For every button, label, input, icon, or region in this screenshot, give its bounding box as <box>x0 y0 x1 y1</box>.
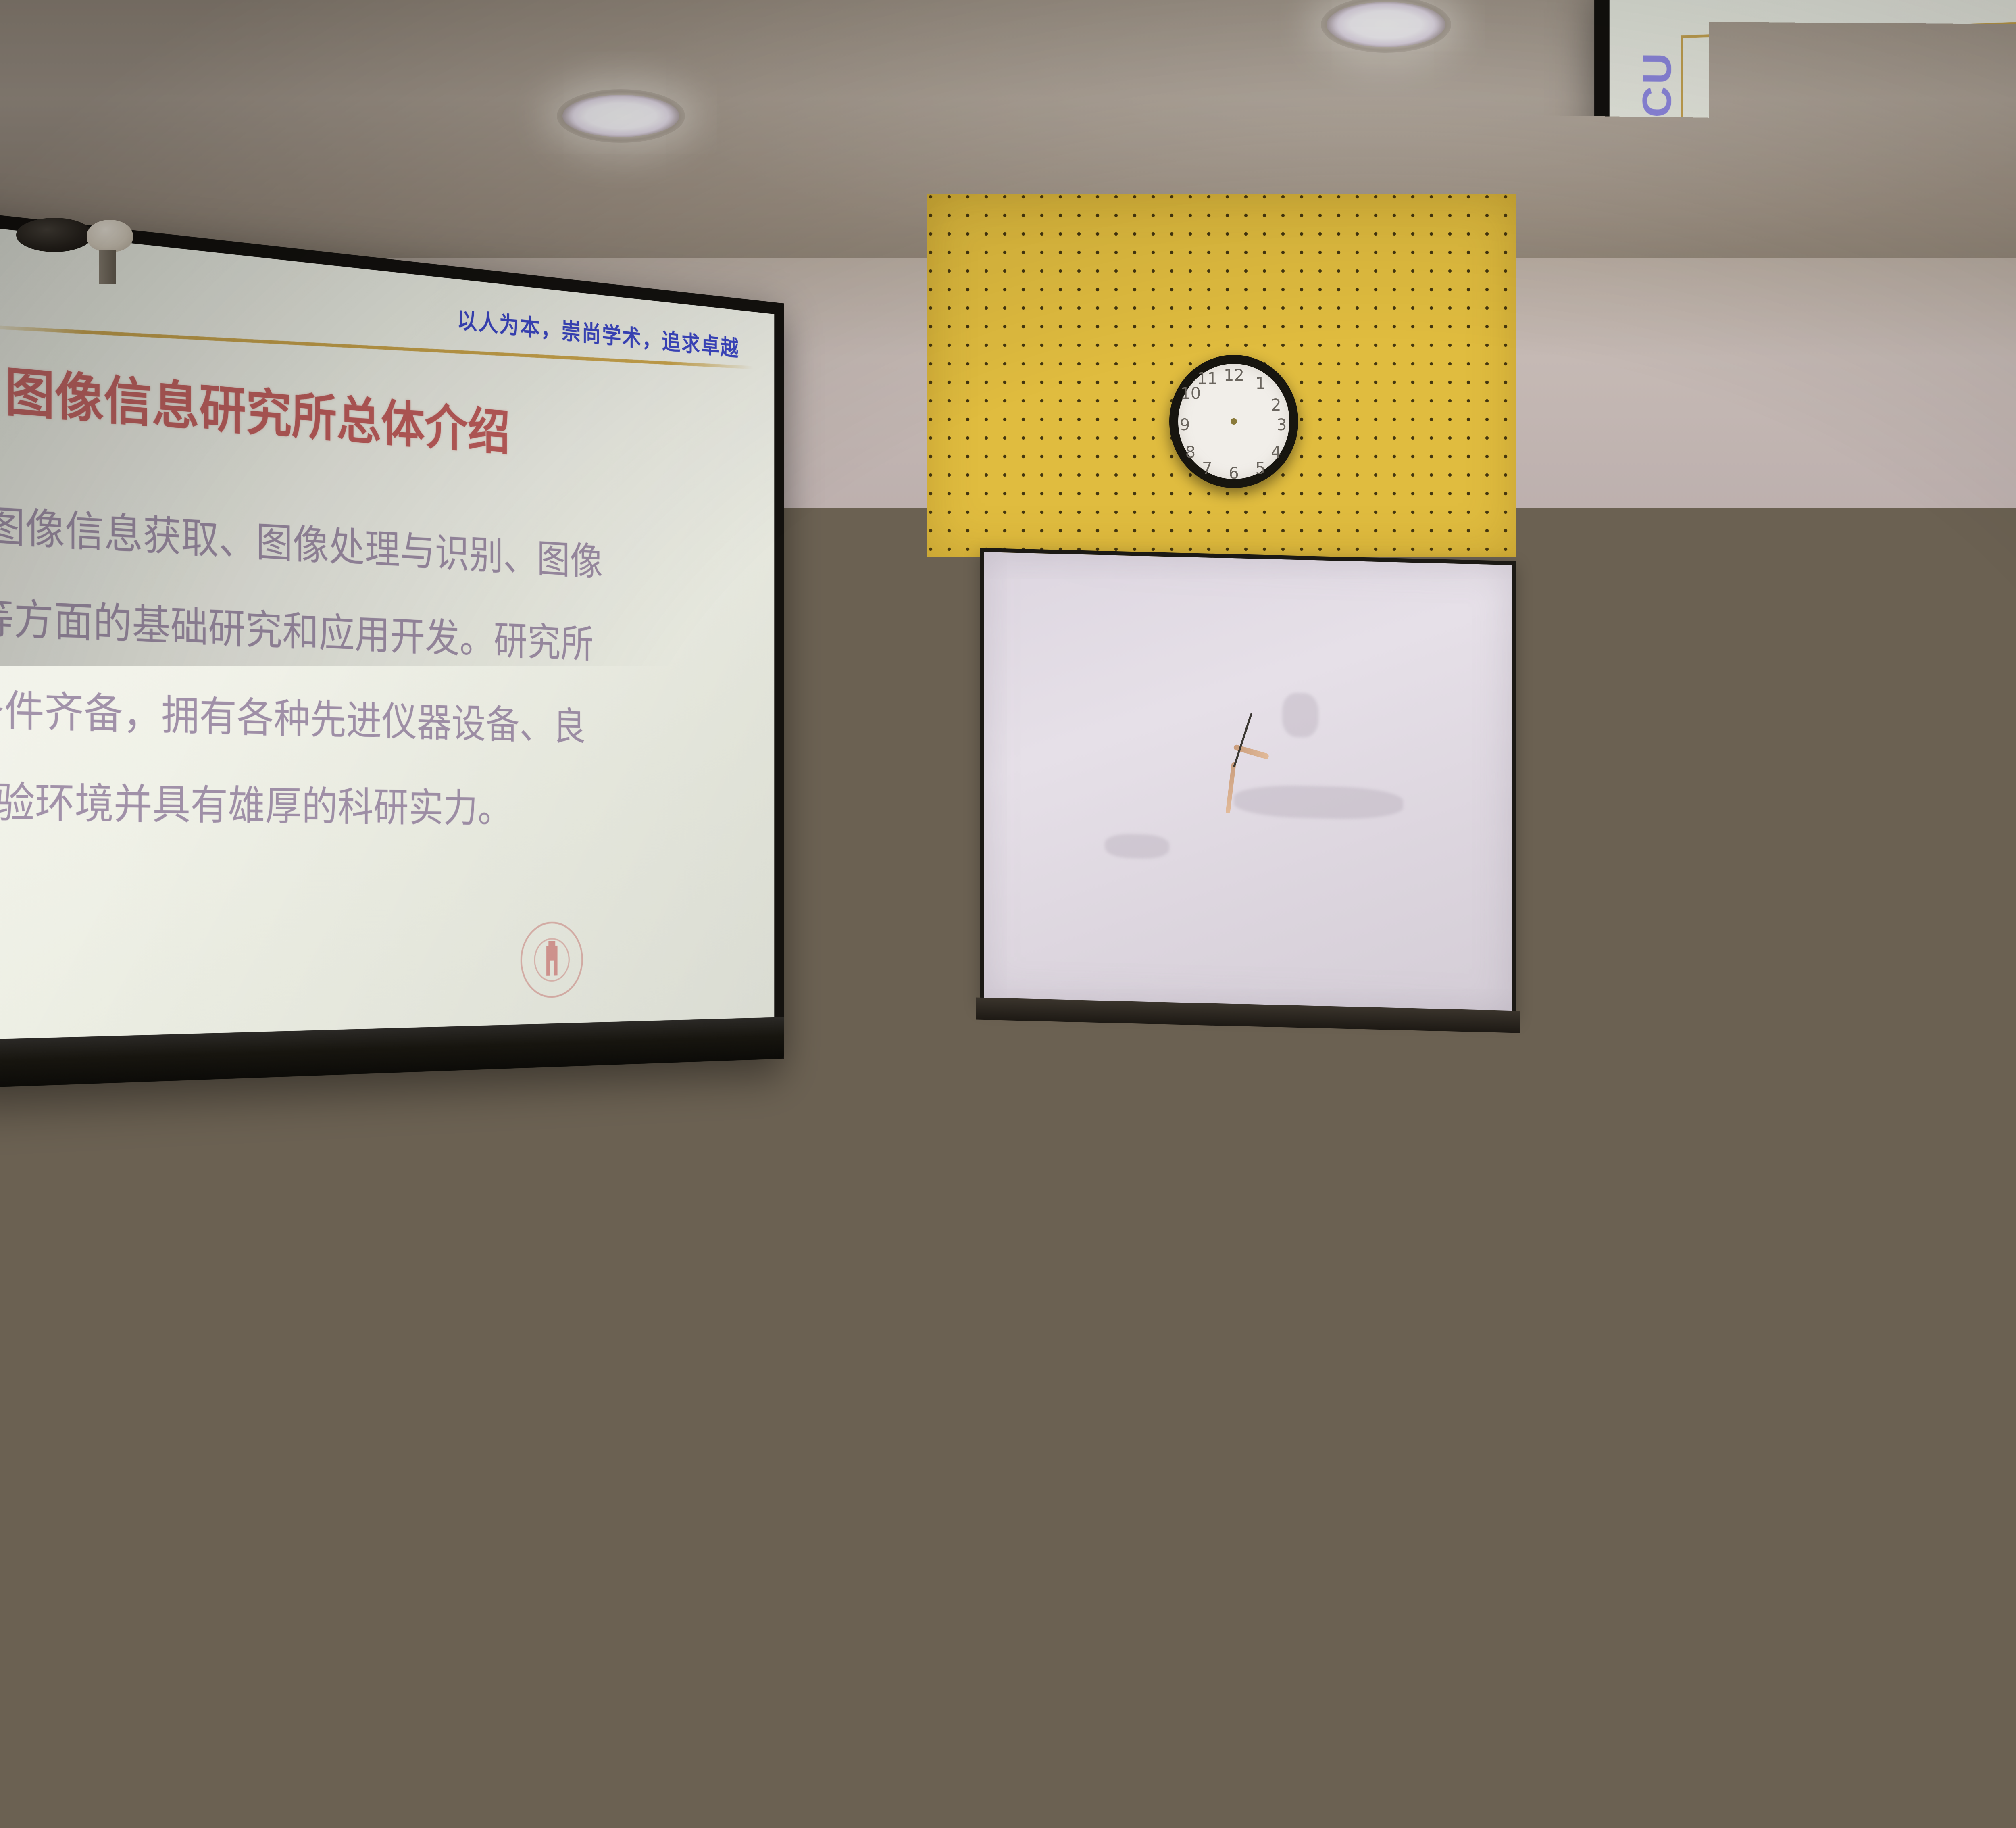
slide-right-body-line-2: 传输等方面的基础研究和应用开发。研究 <box>1759 516 2016 613</box>
slide-left-body-line-1: 从事图像信息获取、图像处理与识别、图像 <box>0 486 603 594</box>
lanyu-brand-name: LANYU <box>298 1440 346 1450</box>
slide-right-bullet-icon: ➢ <box>1724 414 1753 457</box>
slide-left-body-line-4: 好的实验环境并具有雄厚的科研实力。 <box>0 766 512 840</box>
clock-number-6: 6 <box>1224 464 1244 483</box>
clock-number-1: 1 <box>1250 374 1270 393</box>
slide-left-body-line-3: 科研条件齐备，拥有各种先进仪器设备、良 <box>0 673 586 758</box>
whiteboard <box>980 548 1516 1017</box>
wall-clock: 12 1 2 3 4 5 6 7 8 9 10 11 <box>1169 355 1298 488</box>
ceiling-downlight-left <box>562 95 679 137</box>
smoke-detector-icon <box>87 220 133 252</box>
slide-left-body-line-2: 传输等方面的基础研究和应用开发。研究所 <box>0 579 594 676</box>
projection-screen-left: 以人为本，崇尚学术，追求卓越 图像信息研究所总体介绍 从事图像信息获取、图像处理… <box>0 210 784 1089</box>
presenter-hand <box>1088 1311 1160 1383</box>
slide-right: SCU 图像信息研究所总体介绍 ➢ 从事图像信息获取、图像处理与识别、图 传输等… <box>1610 0 2016 955</box>
clock-number-9: 9 <box>1175 416 1195 434</box>
microphone-head <box>1091 1217 1130 1267</box>
lanyu-brand-text: LANYU 蓝羽办公家具 <box>298 1440 346 1455</box>
lanyu-brand-subtitle: 蓝羽办公家具 <box>298 1450 346 1455</box>
presenter-mouth <box>1079 1125 1114 1139</box>
ceiling-downlight-center <box>1327 2 1445 47</box>
clock-center-pin <box>1231 418 1237 425</box>
clock-number-5: 5 <box>1250 459 1270 478</box>
clock-number-7: 7 <box>1197 459 1217 478</box>
sichuan-university-logo <box>521 921 583 998</box>
water-bottle-left[interactable]: 农夫山泉 <box>71 1238 121 1407</box>
slide-right-body-line-1: 从事图像信息获取、图像处理与识别、图 <box>1762 406 2016 497</box>
presenter: ★ <box>976 964 1266 1440</box>
bottle-brand-left: 农夫山泉 <box>71 1336 121 1344</box>
whiteboard-smudge-2 <box>1105 833 1169 859</box>
clock-number-12: 12 <box>1224 366 1244 385</box>
projection-screen-left-surface: 以人为本，崇尚学术，追求卓越 图像信息研究所总体介绍 从事图像信息获取、图像处理… <box>0 225 774 1040</box>
whiteboard-smudge-1 <box>1234 784 1403 820</box>
lanyu-star-icon <box>282 1437 296 1458</box>
slide-right-body-line-4: 好的实验环境并具有雄厚的科研实力。 <box>1752 735 2016 844</box>
side-table-chair-edge <box>0 1401 40 1446</box>
presenter-glasses-bridge <box>1092 1075 1099 1078</box>
ceiling-speaker-icon <box>16 218 93 252</box>
clock-number-8: 8 <box>1180 443 1200 462</box>
scu-wordmark: SCU <box>1634 51 1681 149</box>
slide-right-body-line-3: 科研条件齐备，拥有各种先进仪器设备、 <box>1755 625 2016 729</box>
floor <box>0 1746 2016 1828</box>
clock-number-2: 2 <box>1266 396 1286 415</box>
presenter-glasses-left-lens <box>1048 1065 1092 1094</box>
presenter-glasses-right-lens <box>1097 1065 1140 1094</box>
whiteboard-smudge-3 <box>1282 692 1318 738</box>
ceiling-mount-bracket <box>99 250 116 284</box>
projection-screen-right-surface: SCU 图像信息研究所总体介绍 ➢ 从事图像信息获取、图像处理与识别、图 传输等… <box>1610 0 2016 955</box>
slide-left: 以人为本，崇尚学术，追求卓越 图像信息研究所总体介绍 从事图像信息获取、图像处理… <box>0 225 774 1040</box>
slide-right-title: 图像信息研究所总体介绍 <box>1833 0 2016 94</box>
projection-screen-right: SCU 图像信息研究所总体介绍 ➢ 从事图像信息获取、图像处理与识别、图 传输等… <box>1594 0 2016 1016</box>
slide-right-corner-rule-v <box>1681 35 1683 265</box>
slide-left-title: 图像信息研究所总体介绍 <box>5 349 510 464</box>
squeeze-bottle-nozzle <box>384 1312 398 1324</box>
clock-number-3: 3 <box>1272 416 1292 434</box>
podium-brand-badge: LANYU 蓝羽办公家具 <box>282 1436 359 1459</box>
bottle-brand-podium: 农夫山泉 <box>518 1313 571 1320</box>
lecture-hall-scene: 以人为本，崇尚学术，追求卓越 图像信息研究所总体介绍 从事图像信息获取、图像处理… <box>0 0 2016 1828</box>
clock-number-11: 11 <box>1197 369 1217 388</box>
four-point-star-icon <box>1639 258 1727 354</box>
